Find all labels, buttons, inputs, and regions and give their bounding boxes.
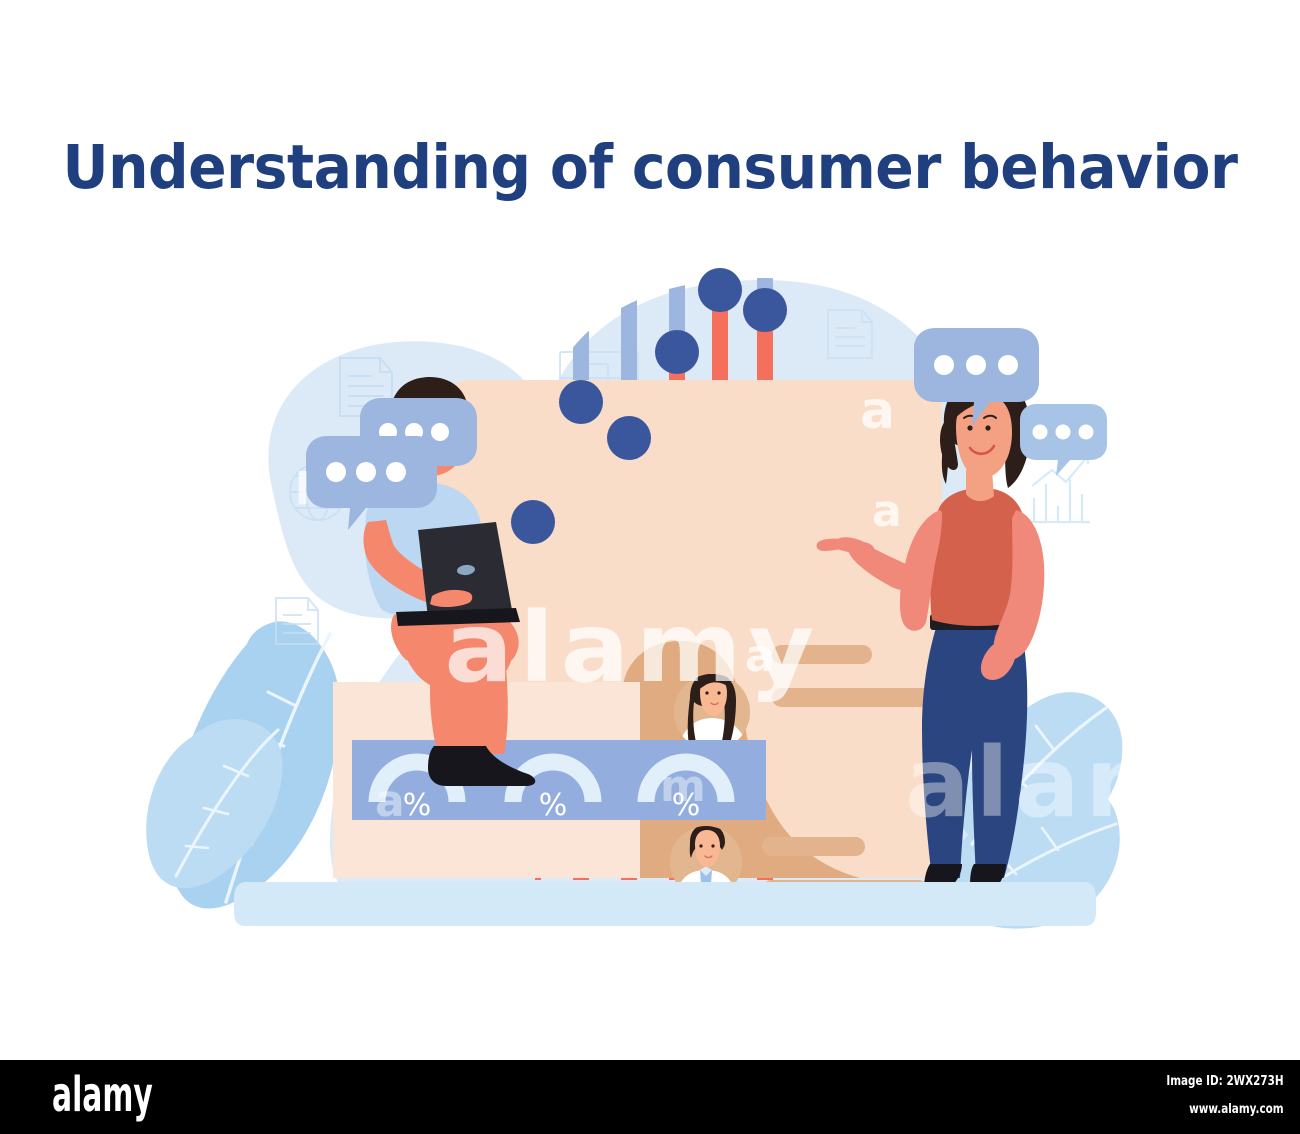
marker-3 <box>607 416 651 460</box>
page-title: Understanding of consumer behavior <box>46 132 1255 204</box>
woman-eye-left <box>967 425 972 430</box>
gauge-label-3: % <box>672 788 701 823</box>
website-label: www.alamy.com <box>1167 1096 1284 1124</box>
footer-meta: Image ID: 2WX273H www.alamy.com <box>1167 1068 1284 1124</box>
chat-bubble-right-lower <box>1020 404 1107 476</box>
alamy-footer-bar: alamy Image ID: 2WX273H www.alamy.com <box>0 1060 1300 1134</box>
alamy-logo: alamy <box>52 1069 153 1121</box>
marker-4 <box>655 330 699 374</box>
illustration-page: Understanding of consumer behavior <box>0 0 1300 1134</box>
consumer-behavior-illustration: % % % <box>0 230 1300 930</box>
gauge-label-2: % <box>539 788 568 823</box>
placeholder-line-1a <box>772 645 872 664</box>
placeholder-line-1b <box>772 688 939 707</box>
image-id-label: Image ID: 2WX273H <box>1167 1068 1284 1096</box>
gauge-label-1: % <box>403 788 432 823</box>
marker-5 <box>698 268 742 312</box>
marker-6 <box>743 288 787 332</box>
leaf-group-left <box>146 621 340 908</box>
base-platform <box>234 882 1096 926</box>
man-calf <box>430 656 488 759</box>
placeholder-line-2a <box>762 837 865 856</box>
marker-1 <box>511 500 555 544</box>
base-shadow <box>234 882 1096 926</box>
woman-eye-right <box>985 425 990 430</box>
marker-2 <box>559 380 603 424</box>
